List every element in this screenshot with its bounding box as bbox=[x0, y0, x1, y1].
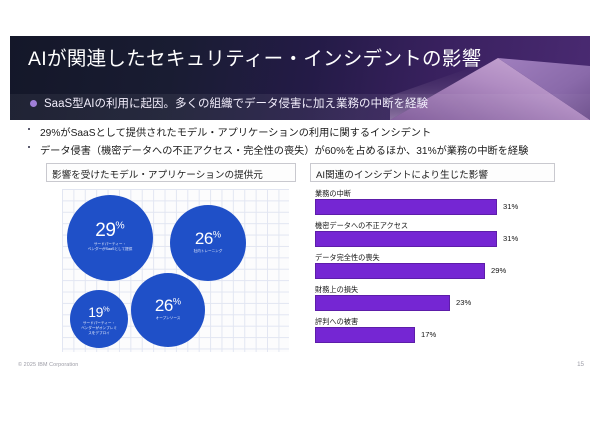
bubble-item: 26% 社内トレーニング bbox=[170, 205, 246, 281]
bar-category-label: 業務の中断 bbox=[315, 189, 351, 199]
square-bullet-icon bbox=[28, 146, 30, 148]
bar-chart-title: AI関連のインシデントにより生じた影響 bbox=[310, 163, 555, 182]
bar-category-label: データ完全性の喪失 bbox=[315, 253, 380, 263]
bar-category-label: 財務上の損失 bbox=[315, 285, 358, 295]
bar-value-label: 31% bbox=[503, 234, 518, 243]
bubble-label: サードパーティー・ベンダーがSaaSとして提供 bbox=[67, 242, 153, 252]
subhead-band: SaaS型AIの利用に起因。多くの組織でデータ侵害に加え業務の中断を経験 bbox=[10, 94, 590, 120]
bubble-label: 社内トレーニング bbox=[170, 249, 246, 254]
bubble-label: オープンソース bbox=[131, 316, 205, 321]
bar-chart-panel: AI関連のインシデントにより生じた影響 業務の中断31%機密データへの不正アクセ… bbox=[310, 163, 560, 353]
bubble-chart-plot: 29% サードパーティー・ベンダーがSaaSとして提供 26% 社内トレーニング… bbox=[62, 189, 289, 352]
bar-value-label: 17% bbox=[421, 330, 436, 339]
bar-value-label: 31% bbox=[503, 202, 518, 211]
bubble-label: サードパーティー・ベンダーがオンプレミスをデプロイ bbox=[70, 321, 128, 336]
bar-fill bbox=[315, 327, 415, 343]
bar-chart-plot: 業務の中断31%機密データへの不正アクセス31%データ完全性の喪失29%財務上の… bbox=[313, 189, 560, 352]
bar-fill bbox=[315, 295, 450, 311]
square-bullet-icon bbox=[28, 128, 30, 130]
bar-value-label: 23% bbox=[456, 298, 471, 307]
body-bullet-2-text: データ侵害（機密データへの不正アクセス・完全性の喪失）が60%を占めるほか、31… bbox=[40, 142, 528, 157]
page-number: 15 bbox=[577, 361, 584, 368]
slide-canvas: AIが関連したセキュリティー・インシデントの影響 SaaS型AIの利用に起因。多… bbox=[0, 0, 600, 424]
subhead-text: SaaS型AIの利用に起因。多くの組織でデータ侵害に加え業務の中断を経験 bbox=[44, 95, 428, 111]
bubble-value: 26% bbox=[170, 230, 246, 247]
bar-category-label: 評判への被害 bbox=[315, 317, 358, 327]
bubble-chart-panel: 影響を受けたモデル・アプリケーションの提供元 29% サードパーティー・ベンダー… bbox=[46, 163, 296, 353]
body-bullet-2: データ侵害（機密データへの不正アクセス・完全性の喪失）が60%を占めるほか、31… bbox=[28, 142, 528, 157]
page-title: AIが関連したセキュリティー・インシデントの影響 bbox=[28, 42, 481, 71]
bar-value-label: 29% bbox=[491, 266, 506, 275]
body-bullet-1: 29%がSaaSとして提供されたモデル・アプリケーションの利用に関するインシデン… bbox=[28, 124, 431, 139]
bar-fill bbox=[315, 199, 497, 215]
bubble-item: 29% サードパーティー・ベンダーがSaaSとして提供 bbox=[67, 195, 153, 281]
bullet-dot-icon bbox=[30, 100, 37, 107]
bubble-value: 29% bbox=[67, 221, 153, 240]
bar-fill bbox=[315, 263, 485, 279]
bar-category-label: 機密データへの不正アクセス bbox=[315, 221, 408, 231]
bubble-item: 26% オープンソース bbox=[131, 273, 205, 347]
slide-header: AIが関連したセキュリティー・インシデントの影響 SaaS型AIの利用に起因。多… bbox=[10, 36, 590, 120]
bubble-value: 26% bbox=[131, 297, 205, 314]
bubble-chart-title: 影響を受けたモデル・アプリケーションの提供元 bbox=[46, 163, 296, 182]
bubble-item: 19% サードパーティー・ベンダーがオンプレミスをデプロイ bbox=[70, 290, 128, 348]
bar-fill bbox=[315, 231, 497, 247]
bubble-value: 19% bbox=[70, 305, 128, 319]
copyright-text: © 2025 IBM Corporation bbox=[18, 362, 78, 368]
body-bullet-1-text: 29%がSaaSとして提供されたモデル・アプリケーションの利用に関するインシデン… bbox=[40, 124, 431, 139]
